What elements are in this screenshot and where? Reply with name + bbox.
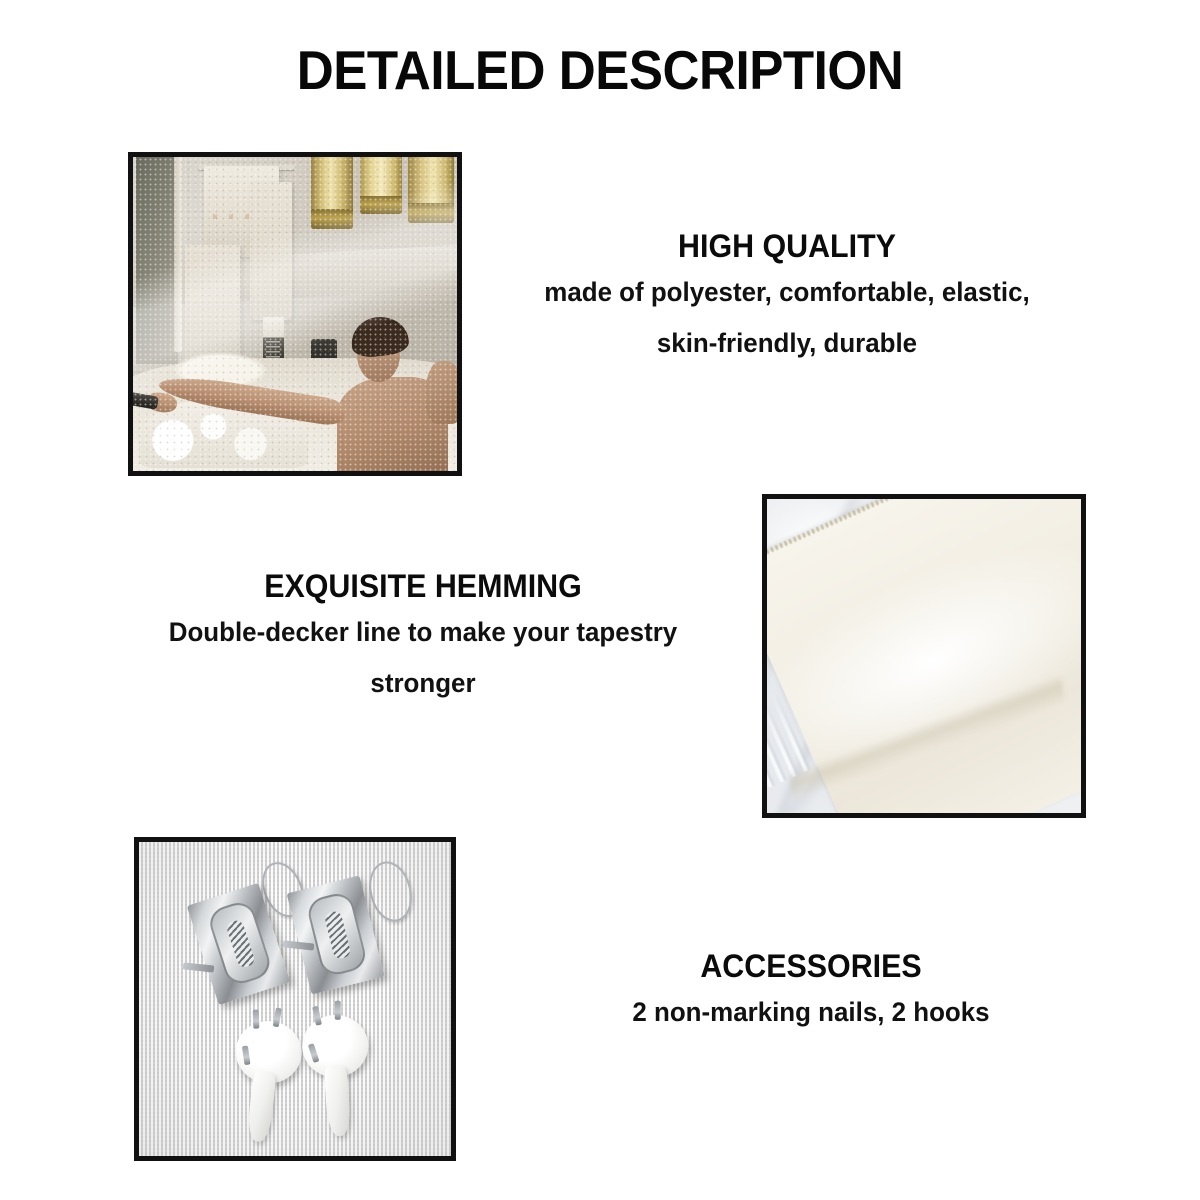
section-high-quality: HIGH QUALITY made of polyester, comforta… [462,228,1112,357]
section-body-line: 2 non-marking nails, 2 hooks [557,999,1066,1026]
photo-vignette [139,842,451,1156]
section-body-line: Double-decker line to make your tapestry [101,619,744,646]
tapestry-lifestyle-photo-content [133,157,457,471]
fabric-weave-overlay [133,157,457,471]
tapestry-lifestyle-photo[interactable] [128,152,462,476]
page-title: DETAILED DESCRIPTION [42,38,1158,102]
section-accessories: ACCESSORIES 2 non-marking nails, 2 hooks [546,948,1076,1026]
section-body-line: skin-friendly, durable [475,330,1099,357]
hemming-closeup-photo[interactable] [762,494,1086,818]
accessories-photo[interactable] [134,837,456,1161]
hemming-closeup-photo-content [767,499,1081,813]
section-exquisite-hemming: EXQUISITE HEMMING Double-decker line to … [88,568,758,697]
section-body-line: made of polyester, comfortable, elastic, [475,279,1099,306]
section-body-line: stronger [101,670,744,697]
section-heading-accessories: ACCESSORIES [559,948,1063,985]
accessories-photo-content [139,842,451,1156]
section-heading-high-quality: HIGH QUALITY [478,228,1096,265]
section-heading-exquisite-hemming: EXQUISITE HEMMING [105,568,742,605]
